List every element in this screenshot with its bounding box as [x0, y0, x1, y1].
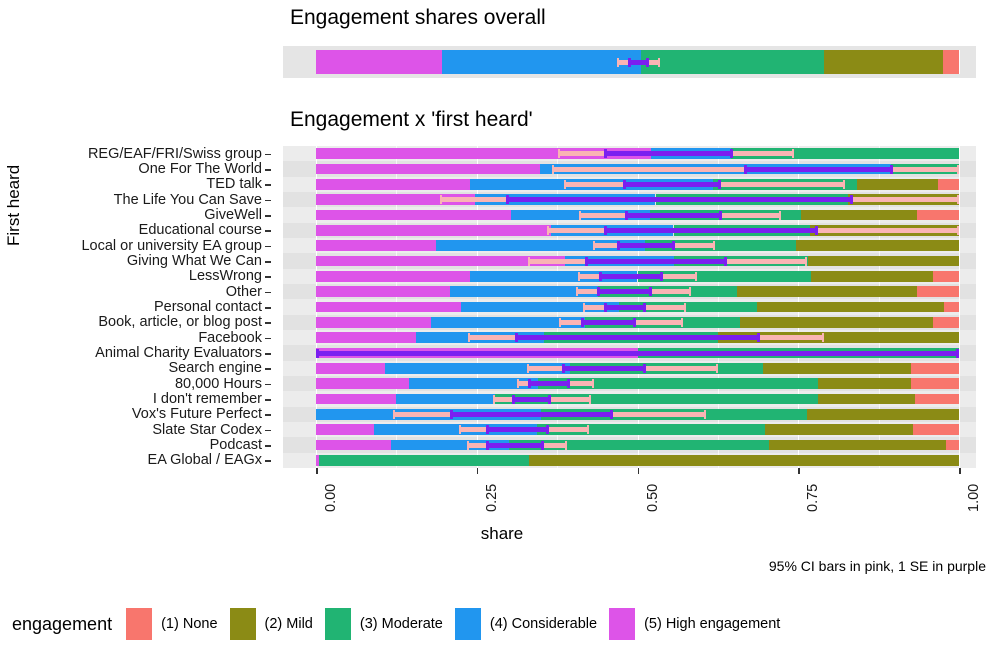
x-axis-tick-label: 1.00 [966, 484, 982, 512]
y-axis-tick [265, 322, 271, 324]
se-bar-row-11 [581, 320, 636, 325]
y-axis-tick [265, 338, 271, 340]
y-axis-label: Local or university EA group [81, 239, 262, 254]
x-axis: 0.000.250.500.751.00 [316, 468, 959, 528]
bar-segment--5-high-engagement [316, 394, 396, 405]
bar-segment--1-none [911, 363, 959, 374]
bar-segment--2-mild [740, 317, 934, 328]
y-axis-tick [265, 292, 271, 294]
bar-segment--2-mild [818, 378, 911, 389]
y-axis-tick [265, 399, 271, 401]
overall-chart-panel [283, 46, 976, 78]
y-axis-label: Facebook [198, 331, 262, 346]
bar-row [316, 440, 959, 451]
bar-segment--1-none [917, 210, 959, 221]
bar-segment--5-high-engagement [316, 210, 511, 221]
legend-swatch-icon [609, 608, 635, 640]
y-axis-label: LessWrong [189, 269, 262, 284]
bar-segment--5-high-engagement [316, 363, 385, 374]
chart-caption: 95% CI bars in pink, 1 SE in purple [769, 558, 986, 574]
bar-segment--5-high-engagement [316, 424, 374, 435]
se-bar-row-1 [744, 167, 893, 172]
x-axis-tick-label: 0.75 [805, 484, 821, 512]
bar-segment--2-mild [801, 210, 916, 221]
y-axis-label: Search engine [168, 361, 262, 376]
y-axis-label: Vox's Future Perfect [132, 407, 262, 422]
y-axis-label: Giving What We Can [127, 254, 262, 269]
se-bar-row-5 [604, 228, 817, 233]
bar-row [316, 378, 959, 389]
bar-segment--1-none [917, 286, 959, 297]
legend-item[interactable]: (3) Moderate [325, 608, 443, 640]
legend-title: engagement [12, 614, 112, 635]
y-axis-label: 80,000 Hours [175, 377, 262, 392]
se-bar-row-14 [562, 366, 646, 371]
legend-item[interactable]: (5) High engagement [609, 608, 780, 640]
bar-segment--1-none [913, 424, 959, 435]
y-axis-tick [265, 414, 271, 416]
bar-segment--2-mild [796, 240, 959, 251]
main-chart-title: Engagement x 'first heard' [290, 108, 533, 132]
se-bar-row-19 [486, 443, 545, 448]
overall-stacked-bar [316, 50, 959, 74]
y-axis-label: Animal Charity Evaluators [95, 346, 262, 361]
bar-segment--1-none [933, 317, 959, 328]
gridline-major [959, 50, 960, 74]
x-axis-tick [638, 468, 640, 474]
y-axis-label: Other [226, 285, 262, 300]
gridline-major [959, 146, 960, 468]
legend-item[interactable]: (2) Mild [230, 608, 313, 640]
bar-segment--5-high-engagement [316, 179, 470, 190]
legend-swatch-icon [230, 608, 256, 640]
bar-row [316, 424, 959, 435]
x-axis-tick-label: 0.25 [484, 484, 500, 512]
overall-segment--2-mild [824, 50, 943, 74]
y-axis-tick [265, 460, 271, 462]
y-axis-label: EA Global / EAGx [148, 453, 262, 468]
y-axis-label: Slate Star Codex [152, 423, 262, 438]
bar-segment--5-high-engagement [316, 286, 450, 297]
y-axis-label: One For The World [138, 162, 262, 177]
se-bar-row-13 [316, 351, 959, 356]
se-bar-row-2 [623, 182, 721, 187]
y-axis-tick [265, 276, 271, 278]
bar-segment--1-none [915, 394, 959, 405]
y-axis-tick [265, 246, 271, 248]
y-axis-label: GiveWell [204, 208, 262, 223]
x-axis-tick [316, 468, 318, 474]
bar-segment--1-none [944, 302, 959, 313]
x-axis-tick [798, 468, 800, 474]
x-axis-tick-label: 0.50 [645, 484, 661, 512]
bar-segment--5-high-engagement [316, 332, 416, 343]
y-axis-label: I don't remember [153, 392, 262, 407]
y-axis-label: The Life You Can Save [114, 193, 262, 208]
se-bar-row-18 [486, 427, 548, 432]
y-axis-label: Podcast [210, 438, 262, 453]
x-axis-title: share [0, 524, 1004, 544]
y-axis-tick [265, 184, 271, 186]
bar-segment--1-none [946, 440, 959, 451]
se-bar-overall [628, 60, 649, 65]
legend-item-label: (5) High engagement [644, 616, 780, 632]
se-bar-row-16 [512, 397, 551, 402]
bar-segment--5-high-engagement [316, 240, 436, 251]
se-bar-row-17 [450, 412, 613, 417]
se-bar-row-15 [528, 381, 570, 386]
se-bar-row-0 [604, 151, 733, 156]
overall-segment--3-moderate [641, 50, 824, 74]
legend-swatch-icon [455, 608, 481, 640]
y-axis-tick [265, 430, 271, 432]
bar-segment--5-high-engagement [316, 225, 551, 236]
y-axis-label: Book, article, or blog post [98, 315, 262, 330]
x-axis-tick [477, 468, 479, 474]
y-axis-title: First heard [4, 165, 24, 246]
y-axis-label: Personal contact [154, 300, 262, 315]
bar-segment--3-moderate [319, 455, 529, 466]
bar-segment--2-mild [737, 286, 917, 297]
legend-items: (1) None(2) Mild(3) Moderate(4) Consider… [126, 608, 792, 640]
bar-segment--2-mild [529, 455, 959, 466]
y-axis-tick [265, 215, 271, 217]
y-axis-tick [265, 445, 271, 447]
y-axis-label: Educational course [139, 223, 262, 238]
se-bar-row-7 [585, 259, 727, 264]
legend-item-label: (1) None [161, 616, 217, 632]
legend-item[interactable]: (1) None [126, 608, 217, 640]
y-axis-label: REG/EAF/FRI/Swiss group [88, 147, 262, 162]
bar-segment--4-considerable [396, 394, 496, 405]
bar-segment--1-none [933, 271, 959, 282]
se-bar-row-10 [604, 305, 646, 310]
legend-item-label: (2) Mild [265, 616, 313, 632]
y-axis-label: TED talk [206, 177, 262, 192]
bar-segment--2-mild [818, 394, 914, 405]
main-stacked-bars [316, 146, 959, 468]
y-axis-labels: REG/EAF/FRI/Swiss groupOne For The World… [0, 146, 274, 468]
y-axis-tick [265, 368, 271, 370]
legend: engagement (1) None(2) Mild(3) Moderate(… [0, 600, 1004, 648]
y-axis-tick [265, 200, 271, 202]
main-chart-panel [283, 146, 976, 468]
bar-row [316, 455, 959, 466]
legend-swatch-icon [126, 608, 152, 640]
bar-segment--2-mild [808, 256, 959, 267]
overall-segment--5-high-engagement [316, 50, 442, 74]
bar-segment--5-high-engagement [316, 378, 409, 389]
bar-segment--5-high-engagement [316, 440, 391, 451]
se-bar-row-12 [515, 335, 759, 340]
se-bar-row-3 [506, 197, 853, 202]
legend-item[interactable]: (4) Considerable [455, 608, 597, 640]
x-axis-tick-label: 0.00 [323, 484, 339, 512]
bar-segment--5-high-engagement [316, 317, 431, 328]
bar-segment--2-mild [765, 424, 913, 435]
overall-chart-title: Engagement shares overall [290, 6, 546, 30]
y-axis-tick [265, 230, 271, 232]
legend-swatch-icon [325, 608, 351, 640]
y-axis-tick [265, 261, 271, 263]
y-axis-tick [265, 384, 271, 386]
bar-segment--2-mild [807, 409, 959, 420]
bar-segment--2-mild [757, 302, 943, 313]
y-axis-tick [265, 353, 271, 355]
bar-segment--1-none [938, 179, 959, 190]
bar-segment--2-mild [763, 363, 911, 374]
bar-segment--5-high-engagement [316, 302, 461, 313]
legend-item-label: (3) Moderate [360, 616, 443, 632]
y-axis-tick [265, 154, 271, 156]
bar-segment--1-none [911, 378, 959, 389]
se-bar-row-8 [599, 274, 663, 279]
y-axis-tick [265, 169, 271, 171]
bar-segment--5-high-engagement [316, 164, 540, 175]
bar-segment--2-mild [811, 271, 933, 282]
bar-segment--2-mild [857, 179, 937, 190]
se-bar-row-6 [617, 243, 675, 248]
overall-segment--1-none [943, 50, 959, 74]
y-axis-tick [265, 307, 271, 309]
x-axis-tick [959, 468, 961, 474]
overall-segment--4-considerable [442, 50, 641, 74]
bar-segment--2-mild [769, 440, 946, 451]
se-bar-row-4 [625, 213, 723, 218]
legend-item-label: (4) Considerable [490, 616, 597, 632]
bar-segment--5-high-engagement [316, 271, 470, 282]
bar-row [316, 394, 959, 405]
se-bar-row-9 [597, 289, 652, 294]
